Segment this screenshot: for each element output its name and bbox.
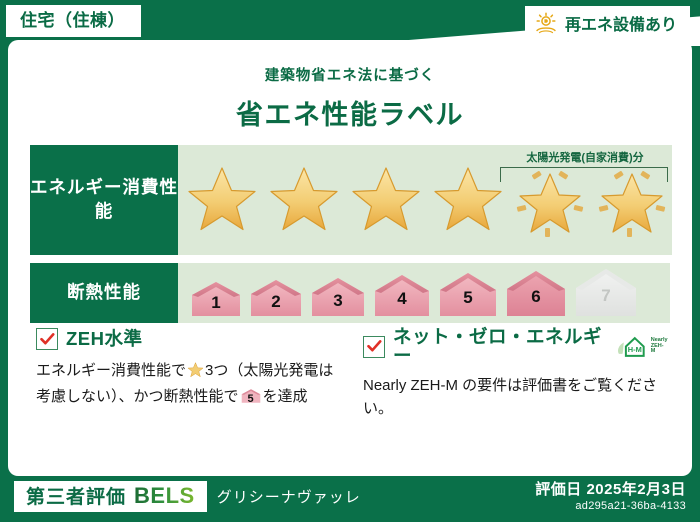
solar-bracket-label: 太陽光発電(自家消費)分 bbox=[502, 149, 668, 165]
third-party-label: 第三者評価 bbox=[26, 488, 126, 507]
check-icon bbox=[36, 328, 58, 350]
footer-left: 第三者評価 BELS グリシーナヴァッレ bbox=[14, 481, 361, 512]
zeh-m-logo-text: H-M bbox=[628, 344, 642, 353]
energy-row-label: エネルギー消費性能 bbox=[30, 145, 178, 255]
insulation-row-label: 断熱性能 bbox=[30, 263, 178, 323]
performance-rows: エネルギー消費性能 bbox=[30, 145, 670, 331]
bels-logo-text: BELS bbox=[134, 485, 195, 507]
star-icon-inline bbox=[187, 362, 204, 385]
evaluation-date: 評価日 2025年2月3日 bbox=[535, 481, 686, 499]
insulation-level-3: 3 bbox=[308, 275, 368, 319]
insulation-level-7: 7 bbox=[572, 266, 640, 319]
insulation-level-4: 4 bbox=[371, 272, 433, 319]
nze-note-header: ネット・ゼロ・エネルギー H-M Nearly ZEH-M bbox=[363, 328, 668, 365]
zeh-m-logo: H-M Nearly ZEH-M bbox=[616, 334, 668, 360]
insulation-level-number: 7 bbox=[601, 286, 610, 306]
notes-section: ZEH水準 エネルギー消費性能で3つ（太陽光発電は考慮しない）、かつ断熱性能で5… bbox=[36, 328, 668, 421]
energy-performance-label: 住宅（住棟） 再エネ設備あり 建築物省エネ法に基づく 省エネ性能ラベル エネルギ… bbox=[0, 0, 700, 522]
insulation-level-number: 4 bbox=[397, 289, 406, 309]
star-filled bbox=[264, 145, 344, 255]
star-filled bbox=[346, 145, 426, 255]
project-name: グリシーナヴァッレ bbox=[217, 486, 361, 507]
evaluation-date-value: 2025年2月3日 bbox=[586, 481, 686, 498]
insulation-level-2: 2 bbox=[247, 277, 305, 319]
renewable-energy-badge: 再エネ設備あり bbox=[525, 6, 690, 45]
solar-bracket bbox=[500, 167, 668, 182]
insulation-level-6: 6 bbox=[503, 268, 569, 319]
zeh-note-header: ZEH水準 bbox=[36, 328, 341, 350]
insulation-scale: 1 2 bbox=[188, 266, 640, 319]
renewable-badge-label: 再エネ設備あり bbox=[565, 18, 677, 34]
title-subtitle: 建築物省エネ法に基づく bbox=[8, 64, 692, 85]
zeh-body-part3: を達成 bbox=[263, 388, 308, 405]
house-icon-number: 5 bbox=[241, 391, 261, 408]
nze-note-title: ネット・ゼロ・エネルギー bbox=[393, 328, 604, 365]
page-title: 省エネ性能ラベル bbox=[8, 93, 692, 132]
footer-right: 評価日 2025年2月3日 ad295a21-36ba-4133 bbox=[535, 481, 686, 514]
insulation-level-number: 1 bbox=[211, 293, 220, 313]
nze-note-body: Nearly ZEH-M の要件は評価書をご覧ください。 bbox=[363, 374, 668, 421]
insulation-performance-row: 断熱性能 bbox=[30, 263, 670, 323]
nze-note: ネット・ゼロ・エネルギー H-M Nearly ZEH-M Nearly bbox=[363, 328, 668, 421]
insulation-level-1: 1 bbox=[188, 279, 244, 319]
star-rating: 太陽光発電(自家消費)分 bbox=[182, 145, 672, 255]
insulation-level-5: 5 bbox=[436, 270, 500, 319]
evaluation-id: ad295a21-36ba-4133 bbox=[535, 499, 686, 514]
footer: 第三者評価 BELS グリシーナヴァッレ 評価日 2025年2月3日 ad295… bbox=[0, 476, 700, 522]
insulation-level-number: 3 bbox=[333, 291, 342, 311]
insulation-level-number: 2 bbox=[271, 292, 280, 312]
energy-performance-row: エネルギー消費性能 bbox=[30, 145, 670, 255]
zeh-star-count: 3つ bbox=[205, 362, 228, 379]
sun-icon bbox=[534, 12, 558, 39]
insulation-row-body: 1 2 bbox=[178, 263, 670, 323]
zeh-note-body: エネルギー消費性能で3つ（太陽光発電は考慮しない）、かつ断熱性能で5を達成 bbox=[36, 359, 341, 409]
zeh-note-title: ZEH水準 bbox=[66, 330, 143, 349]
evaluation-date-label: 評価日 bbox=[535, 481, 582, 498]
zeh-body-part1: エネルギー消費性能で bbox=[36, 362, 186, 379]
zeh-m-logo-sub2: ZEH-M bbox=[651, 344, 668, 356]
building-type-chip: 住宅（住棟） bbox=[6, 5, 141, 37]
bels-badge: 第三者評価 BELS bbox=[14, 481, 207, 512]
zeh-note: ZEH水準 エネルギー消費性能で3つ（太陽光発電は考慮しない）、かつ断熱性能で5… bbox=[36, 328, 341, 421]
energy-row-body: 太陽光発電(自家消費)分 bbox=[178, 145, 672, 255]
insulation-level-number: 6 bbox=[531, 287, 540, 307]
label-card: 建築物省エネ法に基づく 省エネ性能ラベル エネルギー消費性能 bbox=[8, 40, 692, 476]
star-filled bbox=[182, 145, 262, 255]
house-icon-inline: 5 bbox=[241, 387, 261, 405]
star-filled bbox=[428, 145, 508, 255]
check-icon bbox=[363, 336, 385, 358]
insulation-level-number: 5 bbox=[463, 288, 472, 308]
